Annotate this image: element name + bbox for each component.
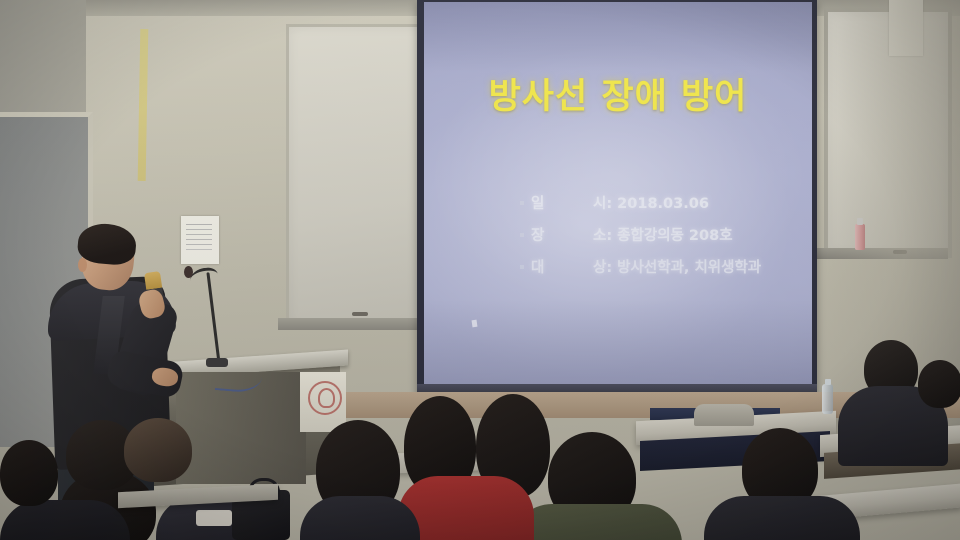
university-emblem-icon xyxy=(308,381,342,415)
bullet-value: 상: 방사선학과, 치위생학과 xyxy=(593,256,810,277)
audience-torso xyxy=(704,496,860,540)
posted-notice xyxy=(181,216,219,264)
projection-screen: 방사선 장애 방어 일 시: 2018.03.06 장 소: 종합강의동 208… xyxy=(424,2,812,390)
audience-torso xyxy=(300,496,420,540)
bullet-label: 장 xyxy=(531,224,593,245)
screen-artifact xyxy=(472,320,478,328)
slide-bullet-list: 일 시: 2018.03.06 장 소: 종합강의동 208호 대 상: 방사선… xyxy=(520,192,810,288)
presenter-ear xyxy=(78,258,87,272)
square-bullet-icon xyxy=(520,196,531,212)
bullet-value: 소: 종합강의동 208호 xyxy=(593,224,810,245)
square-bullet-icon xyxy=(520,260,531,276)
shirt-cuff xyxy=(196,510,232,526)
bullet-label: 대 xyxy=(531,256,593,277)
audience-head xyxy=(918,360,960,408)
bullet-label: 일 xyxy=(531,192,593,213)
audience-torso xyxy=(0,500,130,540)
screen-shading-top xyxy=(424,2,812,72)
lecture-hall-photo: 방사선 장애 방어 일 시: 2018.03.06 장 소: 종합강의동 208… xyxy=(0,0,960,540)
whiteboard-center xyxy=(286,24,432,330)
slide-bullet-row: 일 시: 2018.03.06 xyxy=(520,192,810,213)
marker-pen-icon xyxy=(352,312,368,316)
water-bottle-icon xyxy=(822,384,833,414)
screen-shading-bottom xyxy=(424,300,812,390)
slide-bullet-row: 장 소: 종합강의동 208호 xyxy=(520,224,810,245)
bullet-value: 시: 2018.03.06 xyxy=(593,192,810,213)
gooseneck-microphone-icon xyxy=(184,266,193,278)
audience-torso xyxy=(512,504,682,540)
slide-bullet-row: 대 상: 방사선학과, 치위생학과 xyxy=(520,256,810,277)
audience-head xyxy=(124,418,192,482)
seat-back xyxy=(694,404,754,426)
audience-head xyxy=(0,440,58,506)
whiteboard-ledge xyxy=(278,318,428,330)
slide-title: 방사선 장애 방어 xyxy=(424,68,812,119)
square-bullet-icon xyxy=(520,228,531,244)
